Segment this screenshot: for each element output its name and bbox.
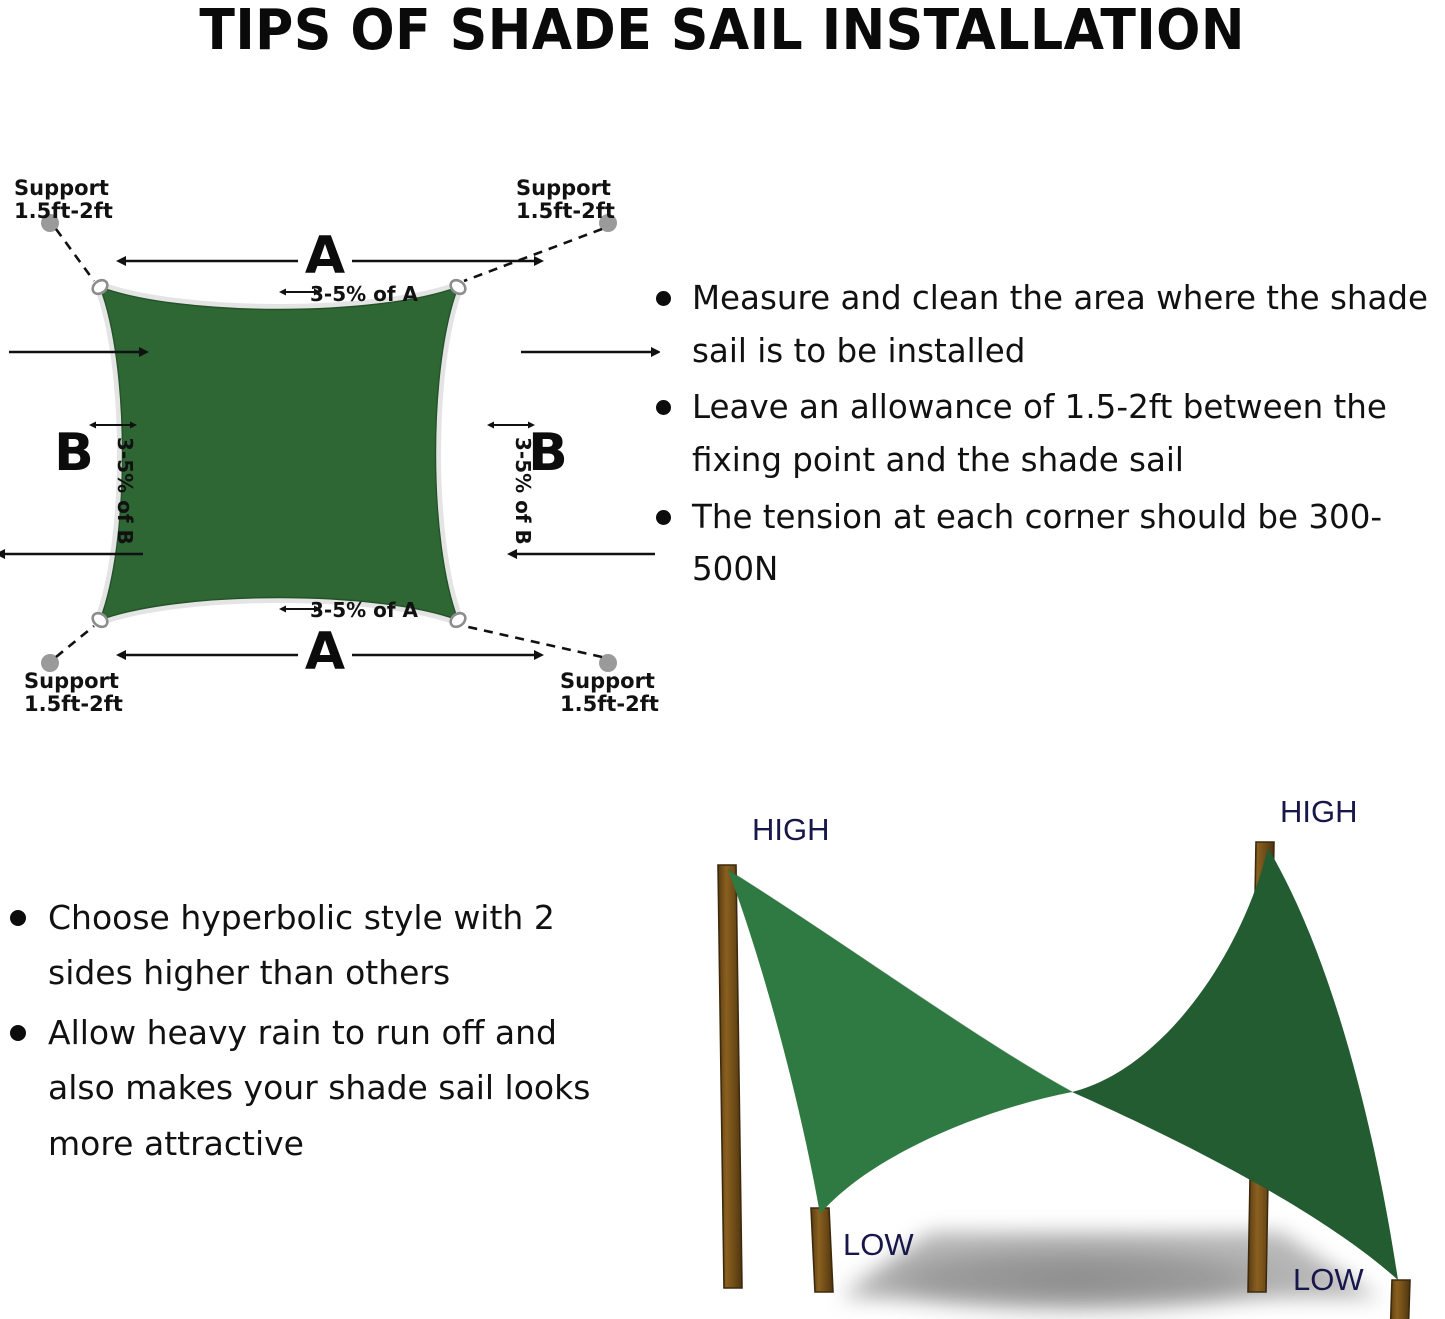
tip-text: Choose hyperbolic style with 2 sides hig… <box>48 898 555 992</box>
support-label-line1: Support <box>24 669 119 693</box>
tip-text: Leave an allowance of 1.5-2ft between th… <box>692 388 1387 479</box>
sail-body <box>100 287 458 620</box>
support-label-line1: Support <box>14 176 109 200</box>
page-title-bar: TIPS OF SHADE SAIL INSTALLATION <box>0 0 1445 62</box>
curve-callout-right-label: 3-5% of B <box>511 437 535 545</box>
tip-item: Leave an allowance of 1.5-2ft between th… <box>648 381 1445 486</box>
tip-item: Allow heavy rain to run off and also mak… <box>0 1005 620 1171</box>
installation-tips-right-list: Measure and clean the area where the sha… <box>648 272 1445 600</box>
label-low-right: LOW <box>1293 1262 1364 1297</box>
bullet-dot-icon <box>656 400 671 415</box>
dimension-a-top: A <box>126 226 534 286</box>
dimension-b-right: B <box>517 352 655 554</box>
hyperbolic-sail-illustration: HIGH HIGH LOW LOW <box>680 780 1445 1319</box>
curve-callout-left: 3-5% of B <box>96 425 137 545</box>
dimension-b-left-label: B <box>54 423 94 483</box>
support-label-top-right: Support 1.5ft-2ft <box>516 176 615 223</box>
rectangular-sail-diagram: Support 1.5ft-2ft Support 1.5ft-2ft Supp… <box>0 165 660 725</box>
bullet-dot-icon <box>656 291 671 306</box>
tether-line-top-right <box>464 229 602 281</box>
tip-item: Measure and clean the area where the sha… <box>648 272 1445 377</box>
tip-text: The tension at each corner should be 300… <box>692 498 1382 589</box>
support-label-line2: 1.5ft-2ft <box>14 199 113 223</box>
tip-text: Measure and clean the area where the sha… <box>692 279 1428 370</box>
support-label-bottom-right: Support 1.5ft-2ft <box>560 669 659 716</box>
tip-text: Allow heavy rain to run off and also mak… <box>48 1013 590 1163</box>
support-label-line1: Support <box>560 669 655 693</box>
curve-callout-bottom-label: 3-5% of A <box>310 598 419 622</box>
dimension-a-bottom: A <box>126 622 534 682</box>
curve-callout-top-label: 3-5% of A <box>310 282 419 306</box>
sail-lobe-front <box>728 870 1072 1214</box>
dimension-a-top-label: A <box>305 226 345 286</box>
tip-item: The tension at each corner should be 300… <box>648 491 1445 596</box>
post-high-left <box>718 865 742 1288</box>
tether-line-bottom-left <box>56 626 94 657</box>
tip-item: Choose hyperbolic style with 2 sides hig… <box>0 890 620 1001</box>
bullet-dot-icon <box>656 510 671 525</box>
dimension-a-bottom-label: A <box>305 622 345 682</box>
label-low-left: LOW <box>843 1227 914 1262</box>
sail-lobe-rear <box>1072 848 1398 1280</box>
curve-callout-right: 3-5% of B <box>494 425 535 545</box>
tether-line-top-left <box>56 229 94 281</box>
bullet-dot-icon <box>10 1025 26 1041</box>
support-label-line2: 1.5ft-2ft <box>24 692 123 716</box>
page-title: TIPS OF SHADE SAIL INSTALLATION <box>200 3 1246 59</box>
installation-tips-left-list: Choose hyperbolic style with 2 sides hig… <box>0 890 620 1175</box>
post-low-right <box>1390 1280 1410 1319</box>
support-label-top-left: Support 1.5ft-2ft <box>14 176 113 223</box>
post-low-left <box>811 1208 833 1292</box>
bullet-dot-icon <box>10 910 26 926</box>
sail-shape-group <box>100 287 458 620</box>
support-label-line1: Support <box>516 176 611 200</box>
support-label-bottom-left: Support 1.5ft-2ft <box>24 669 123 716</box>
curve-callout-left-label: 3-5% of B <box>113 437 137 545</box>
tether-line-bottom-right <box>464 626 602 657</box>
support-label-line2: 1.5ft-2ft <box>516 199 615 223</box>
label-high-right: HIGH <box>1280 794 1358 829</box>
label-high-left: HIGH <box>752 812 830 847</box>
support-label-line2: 1.5ft-2ft <box>560 692 659 716</box>
